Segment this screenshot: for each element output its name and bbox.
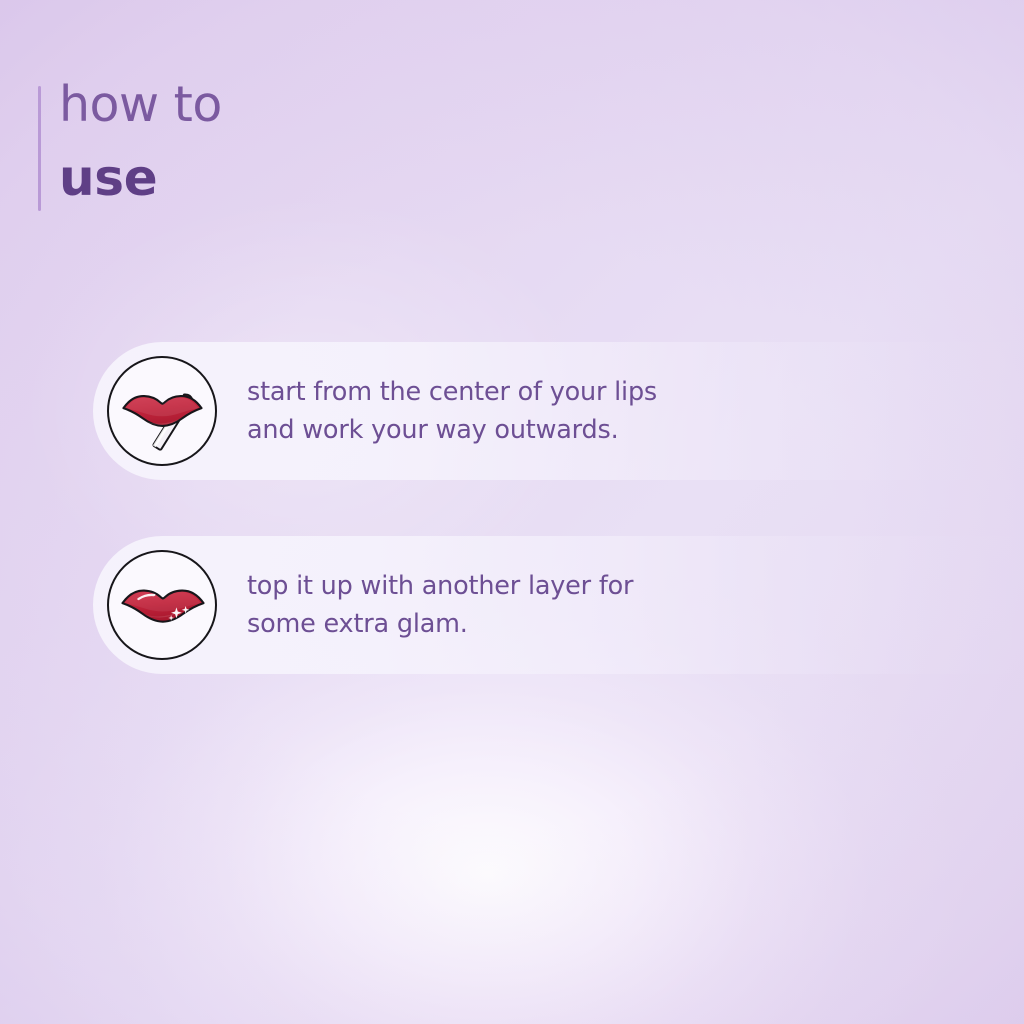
step-card: start from the center of your lips and w… [93,342,1024,480]
title-line-1: how to [59,80,222,130]
title-line-2: use [59,150,222,206]
step-text-line-2: and work your way outwards. [247,411,657,449]
title-accent-bar [38,86,41,211]
step-text-line-1: top it up with another layer for [247,567,633,605]
title-text-block: how to use [59,80,222,215]
step-card: top it up with another layer for some ex… [93,536,1024,674]
glossy-lips-sparkle-icon [107,550,217,660]
step-text: start from the center of your lips and w… [247,373,657,450]
steps-list: start from the center of your lips and w… [93,342,1024,674]
step-text: top it up with another layer for some ex… [247,567,633,644]
page-title: how to use [38,80,222,215]
step-text-line-1: start from the center of your lips [247,373,657,411]
how-to-use-graphic: how to use [0,0,1024,1024]
lips-with-applicator-icon [107,356,217,466]
step-text-line-2: some extra glam. [247,605,633,643]
